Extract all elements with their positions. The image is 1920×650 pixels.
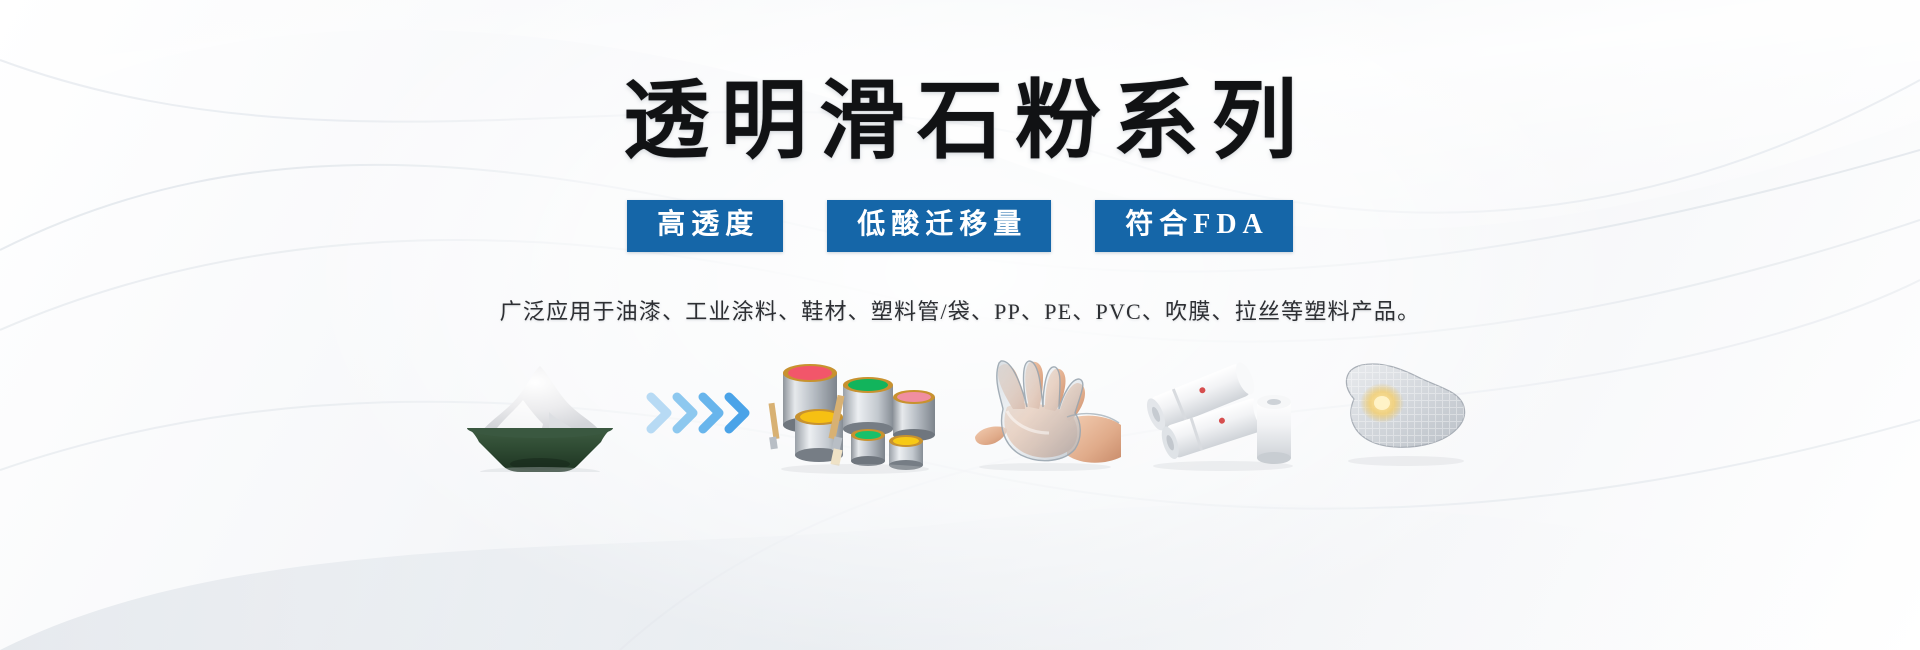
image-gloved-hand	[950, 348, 1130, 478]
image-shoe-insole	[1310, 348, 1480, 478]
image-paint-cans	[760, 348, 950, 478]
badge-low-acid-migration[interactable]: 低酸迁移量	[827, 200, 1051, 252]
feature-badge-list: 高透度 低酸迁移量 符合FDA	[627, 200, 1293, 252]
product-banner: 透明滑石粉系列 高透度 低酸迁移量 符合FDA 广泛应用于油漆、工业涂料、鞋材、…	[0, 0, 1920, 650]
badge-fda-compliant[interactable]: 符合FDA	[1095, 200, 1293, 252]
badge-high-transparency[interactable]: 高透度	[627, 200, 783, 252]
chevron-arrows	[640, 348, 760, 478]
product-image-row	[0, 348, 1920, 478]
page-title: 透明滑石粉系列	[611, 78, 1309, 164]
image-talc-powder-bowl	[440, 348, 640, 478]
application-description: 广泛应用于油漆、工业涂料、鞋材、塑料管/袋、PP、PE、PVC、吹膜、拉丝等塑料…	[500, 294, 1421, 326]
banner-content: 透明滑石粉系列 高透度 低酸迁移量 符合FDA 广泛应用于油漆、工业涂料、鞋材、…	[0, 0, 1920, 650]
image-film-rolls	[1130, 348, 1310, 478]
